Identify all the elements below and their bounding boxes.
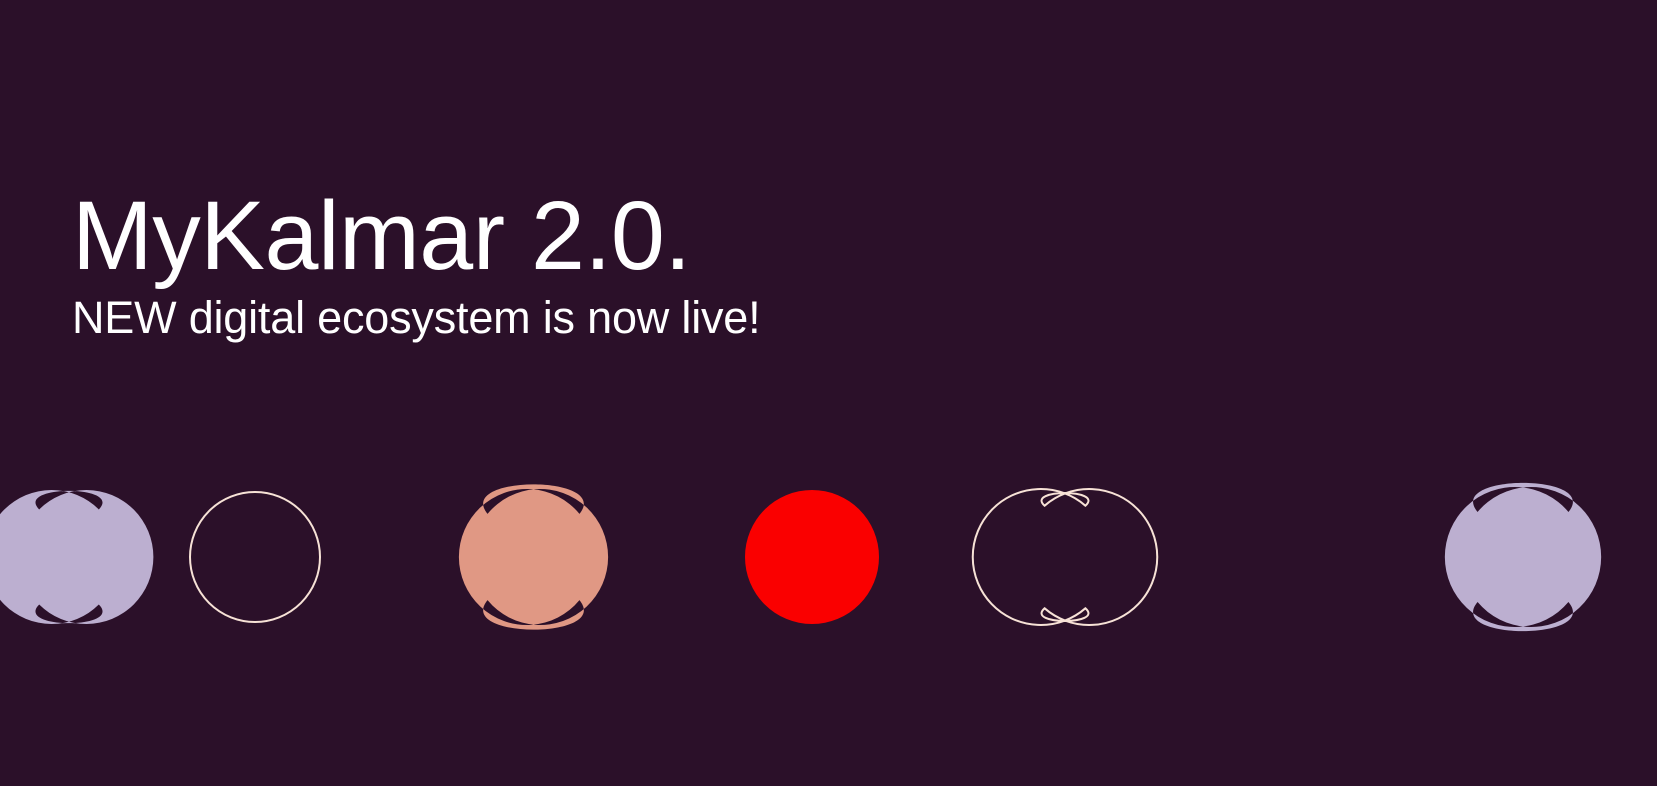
page-title: MyKalmar 2.0. (72, 186, 1172, 287)
decorative-shape-band (0, 0, 1657, 786)
red-circle (745, 490, 879, 624)
outlined-metaball (973, 489, 1157, 625)
salmon-metaball (459, 484, 608, 629)
banner-background (0, 0, 1657, 786)
outlined-circle-single (190, 492, 320, 622)
lavender-metaball-right (1445, 483, 1601, 631)
lavender-metaball-left (0, 490, 153, 624)
decorative-shapes-svg (0, 0, 1657, 786)
hero-subtitle: NEW digital ecosystem is now live! (72, 293, 1172, 343)
hero-text-block: MyKalmar 2.0. NEW digital ecosystem is n… (72, 186, 1172, 342)
hero-banner: MyKalmar 2.0. NEW digital ecosystem is n… (0, 0, 1657, 786)
